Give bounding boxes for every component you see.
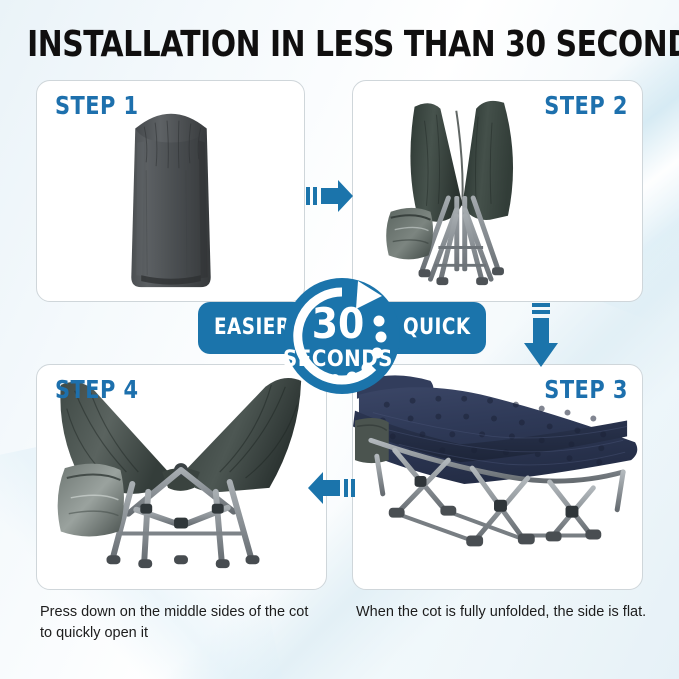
step-label-3: STEP 3	[544, 375, 628, 404]
step-card-2: STEP 2	[352, 80, 643, 302]
center-time-badge: EASIER QUICK 30 SECONDS	[198, 276, 486, 380]
step-label-2: STEP 2	[544, 91, 628, 120]
caption-step4: Press down on the middle sides of the co…	[40, 602, 320, 643]
page-title: INSTALLATION IN LESS THAN 30 SECONDS	[27, 24, 652, 65]
badge-number: 30	[312, 299, 365, 348]
thirty-seconds-circle-icon: 30 SECONDS	[282, 276, 402, 396]
badge-right-word: QUICK	[400, 302, 474, 354]
badge-left-word: EASIER	[214, 302, 288, 354]
infographic-page: INSTALLATION IN LESS THAN 30 SECONDS	[0, 0, 679, 679]
badge-unit: SECONDS	[283, 347, 393, 372]
arrow-step1-to-step2-icon	[306, 176, 354, 216]
step-label-4: STEP 4	[55, 375, 139, 404]
step-card-4: STEP 4	[36, 364, 327, 590]
arrow-step2-to-step3-icon	[519, 303, 563, 369]
arrow-step3-to-step4-icon	[305, 468, 355, 508]
step-label-1: STEP 1	[55, 91, 139, 120]
step-card-1: STEP 1	[36, 80, 305, 302]
caption-step3: When the cot is fully unfolded, the side…	[356, 602, 656, 623]
step-card-3: STEP 3	[352, 364, 643, 590]
